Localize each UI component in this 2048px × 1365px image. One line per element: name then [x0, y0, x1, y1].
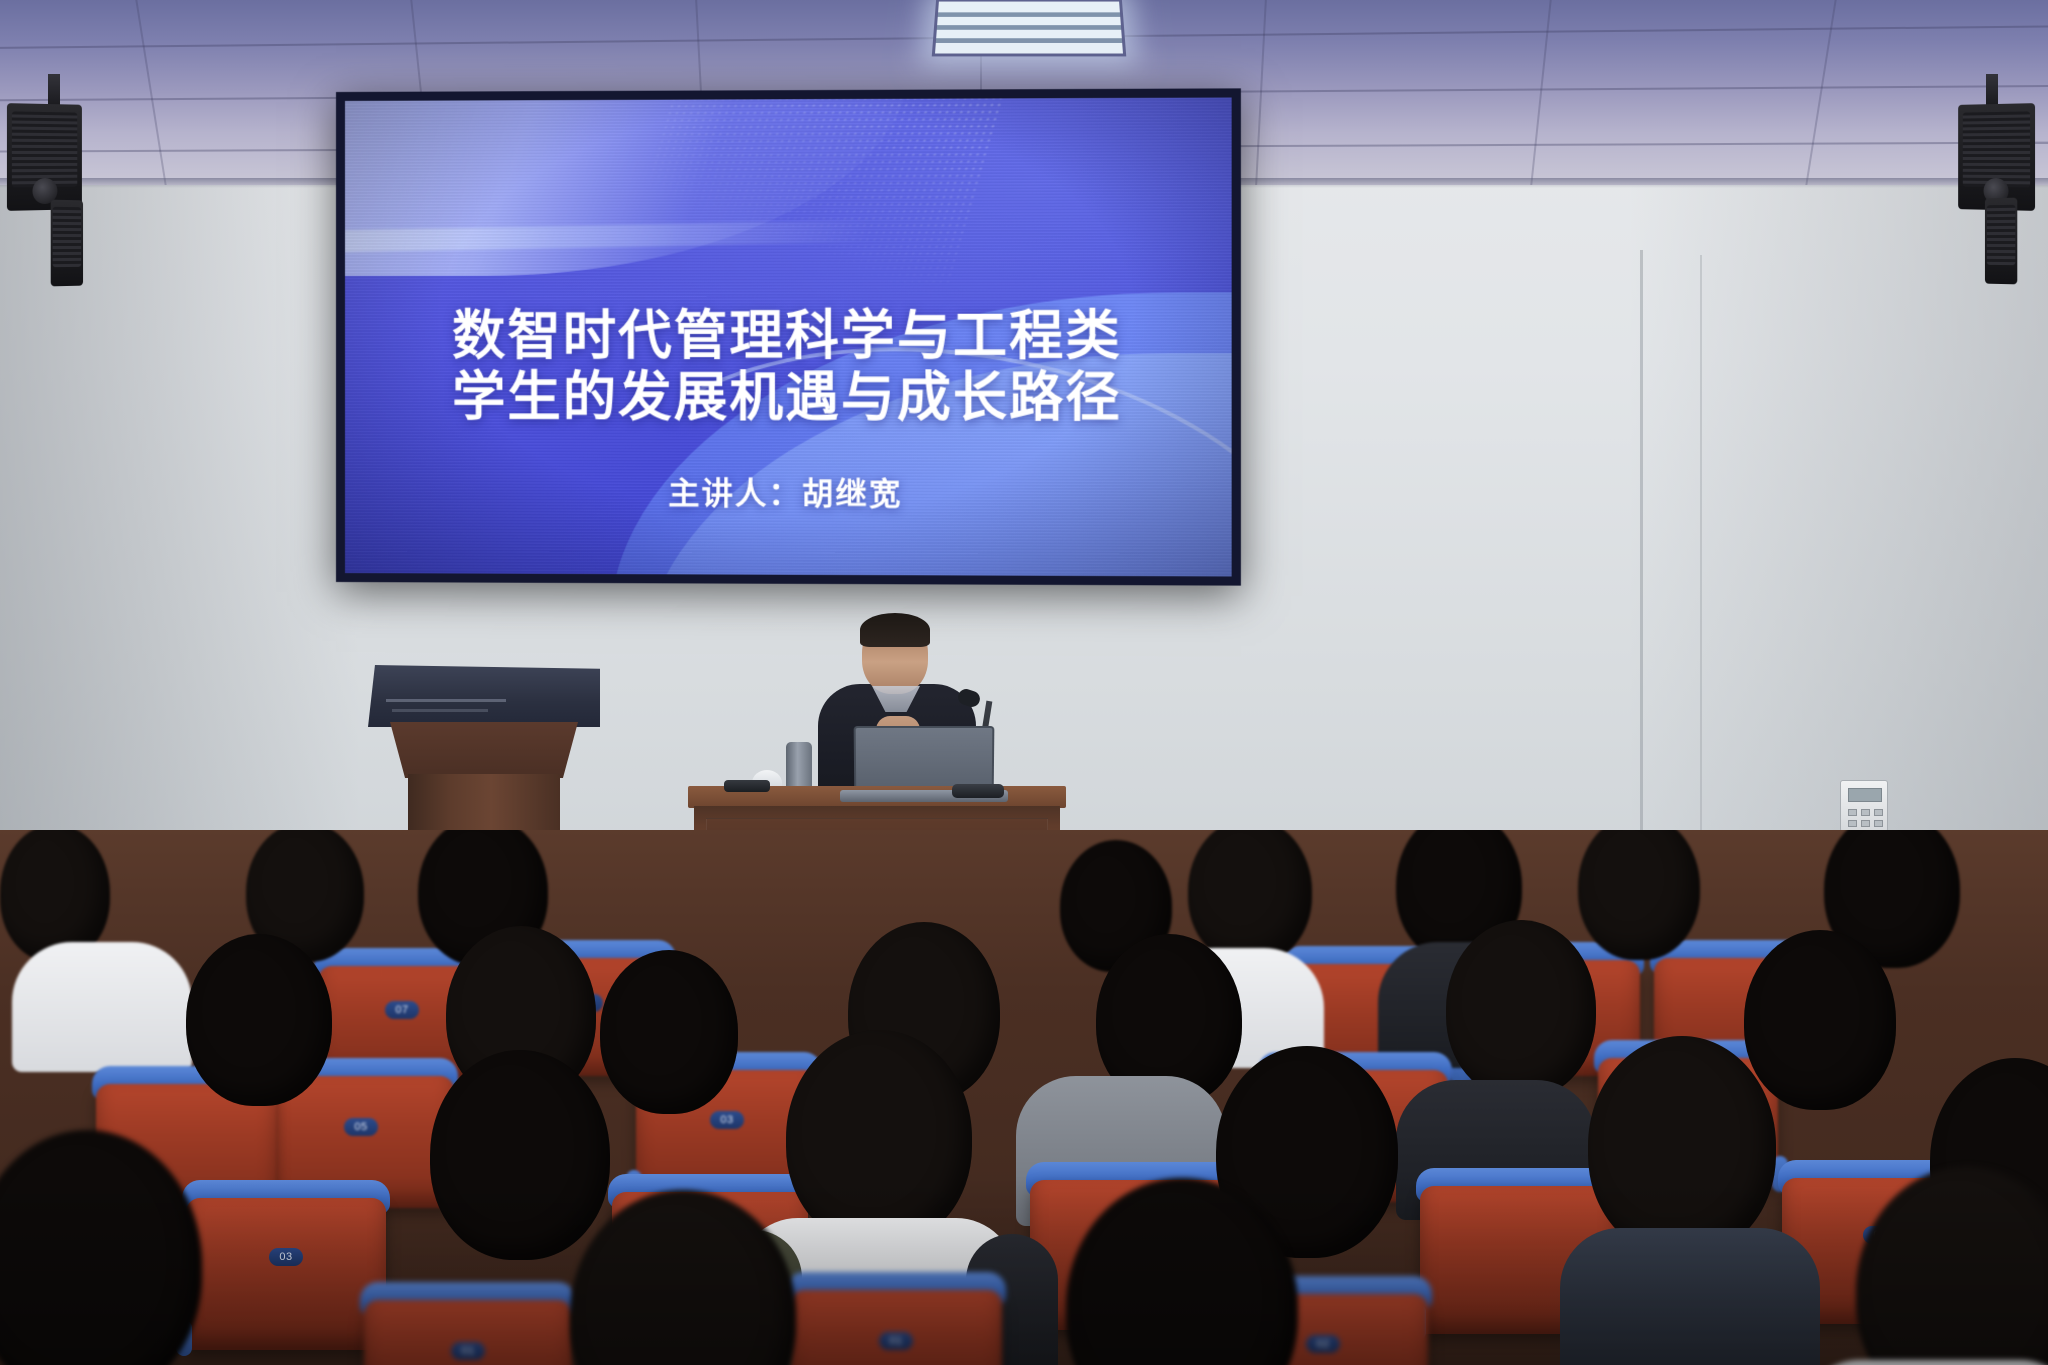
wall-speaker-right-lower [1985, 198, 2017, 285]
audience-head [1188, 830, 1312, 964]
seat-number-badge: 05 [344, 1118, 378, 1136]
audience-head [1588, 1036, 1776, 1256]
seat-number-badge: 03 [710, 1111, 744, 1129]
audience-shoulders [12, 942, 192, 1072]
control-panel-button[interactable] [1874, 809, 1883, 816]
seat-number-badge: 01 [879, 1332, 913, 1350]
seat-number-badge: 07 [385, 1001, 419, 1019]
control-panel-button[interactable] [1848, 820, 1857, 827]
lecture-hall-photo: 数智时代管理科学与工程类 学生的发展机遇与成长路径 主讲人：胡继宽 [0, 0, 2048, 1365]
control-panel-button[interactable] [1861, 809, 1870, 816]
slide-title-line-1: 数智时代管理科学与工程类 [345, 306, 1232, 368]
presenter-hair [860, 613, 930, 647]
slide-decor-dot-grid [618, 98, 1011, 283]
seat-number-badge: 03 [269, 1248, 303, 1266]
microphone-base [952, 784, 1004, 798]
wall-control-panel[interactable] [1840, 780, 1888, 832]
slide-presenter-label: 主讲人：胡继宽 [345, 467, 1232, 515]
audience-seating-area: 07 06 04 [0, 830, 2048, 1365]
lectern-body [390, 722, 578, 778]
audience-shoulders [1560, 1228, 1820, 1365]
wall-speaker-right [1958, 103, 2035, 211]
control-panel-display [1848, 788, 1882, 802]
control-panel-button[interactable] [1861, 820, 1870, 827]
wall-seam-secondary [1700, 255, 1702, 885]
microphone-secondary [724, 780, 770, 792]
seat-number-badge: 02 [1306, 1335, 1340, 1353]
seat-front-row[interactable]: 01 [790, 1272, 1002, 1365]
slide-text-block: 数智时代管理科学与工程类 学生的发展机遇与成长路径 主讲人：胡继宽 [345, 306, 1232, 515]
audience-head [1446, 920, 1596, 1098]
slide-title-line-2: 学生的发展机遇与成长路径 [345, 367, 1232, 430]
control-panel-button[interactable] [1848, 809, 1857, 816]
audience-head [1578, 830, 1700, 960]
seat-front-row[interactable]: 01 [364, 1282, 572, 1365]
audience-head [430, 1050, 610, 1260]
wall-speaker-left-lower [51, 200, 83, 287]
audience-head [600, 950, 738, 1114]
slide-canvas: 数智时代管理科学与工程类 学生的发展机遇与成长路径 主讲人：胡继宽 [345, 98, 1232, 577]
audience-head [1744, 930, 1896, 1110]
wall-seam [1640, 250, 1643, 890]
audience-head [786, 1030, 972, 1246]
recessed-ceiling-light-icon [932, 0, 1127, 56]
lectern-top [368, 665, 600, 727]
led-presentation-screen: 数智时代管理科学与工程类 学生的发展机遇与成长路径 主讲人：胡继宽 [336, 88, 1241, 585]
wall-speaker-left [7, 103, 82, 211]
audience-head [186, 934, 332, 1106]
control-panel-button[interactable] [1874, 820, 1883, 827]
seat-number-badge: 01 [451, 1342, 485, 1360]
seat-row-c[interactable]: 03 [186, 1180, 386, 1350]
